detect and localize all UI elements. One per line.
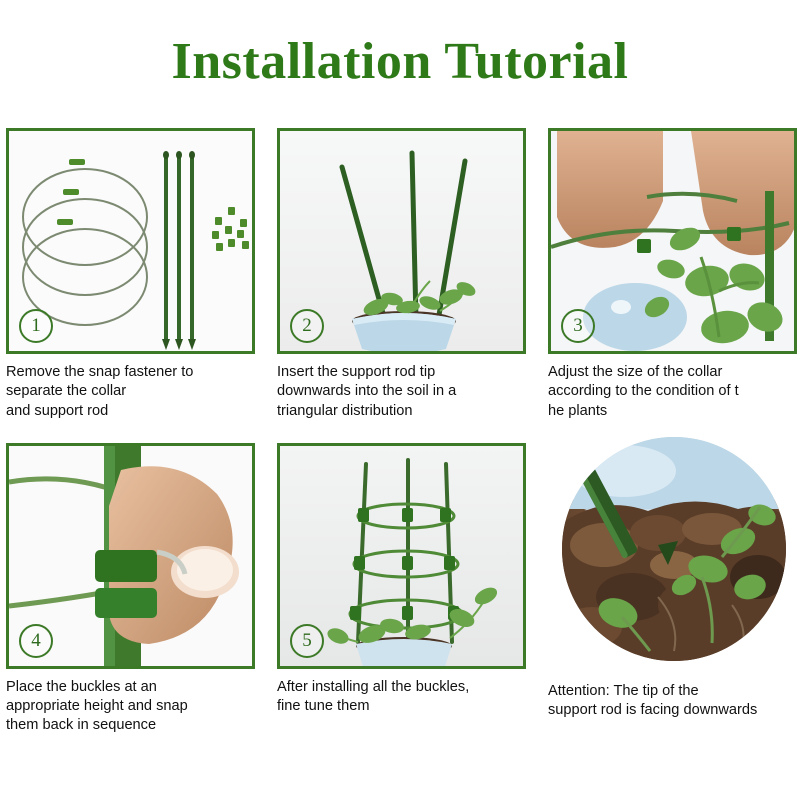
step-card-3: 3 Adjust the size of the collar accordin… [548, 128, 800, 421]
steps-grid: 1 Remove the snap fastener to separate t… [0, 128, 800, 736]
page-title: Installation Tutorial [0, 0, 800, 116]
buckle-piece [215, 217, 222, 225]
step-image-frame-1: 1 [6, 128, 255, 354]
step-number-badge-1: 1 [19, 309, 53, 343]
step-card-5: 5 After installing all the buckles, fine… [277, 443, 532, 736]
step-image-frame-3: 3 [548, 128, 797, 354]
step-image-frame-5: 5 [277, 443, 526, 669]
step-image-frame-6 [548, 443, 797, 669]
buckle-piece [228, 207, 235, 215]
step-number-badge-4: 4 [19, 624, 53, 658]
buckle-piece [216, 243, 223, 251]
step-number-badge-3: 3 [561, 309, 595, 343]
step-caption-6: Attention: The tip of the support rod is… [548, 682, 800, 721]
step-card-2: 2 Insert the support rod tip downwards i… [277, 128, 532, 421]
rod-tip-in-soil-graphic [562, 437, 786, 661]
step-caption-1: Remove the snap fastener to separate the… [6, 363, 258, 421]
buckle-piece [212, 231, 219, 239]
step-image-frame-2: 2 [277, 128, 526, 354]
step-image-frame-4: 4 [6, 443, 255, 669]
buckle-piece [237, 230, 244, 238]
step-caption-2: Insert the support rod tip downwards int… [277, 363, 529, 421]
step-number-badge-5: 5 [290, 624, 324, 658]
step-illustration-6 [562, 437, 786, 661]
buckle-piece [242, 241, 249, 249]
buckle-piece [225, 226, 232, 234]
buckle-piece [228, 239, 235, 247]
step-caption-5: After installing all the buckles, fine t… [277, 678, 529, 717]
step-card-4: 4 Place the buckles at an appropriate he… [6, 443, 261, 736]
step-card-6: Attention: The tip of the support rod is… [548, 443, 800, 736]
step-card-1: 1 Remove the snap fastener to separate t… [6, 128, 261, 421]
step-number-badge-2: 2 [290, 309, 324, 343]
step-caption-3: Adjust the size of the collar according … [548, 363, 800, 421]
step-caption-4: Place the buckles at an appropriate heig… [6, 678, 258, 736]
buckle-piece [240, 219, 247, 227]
